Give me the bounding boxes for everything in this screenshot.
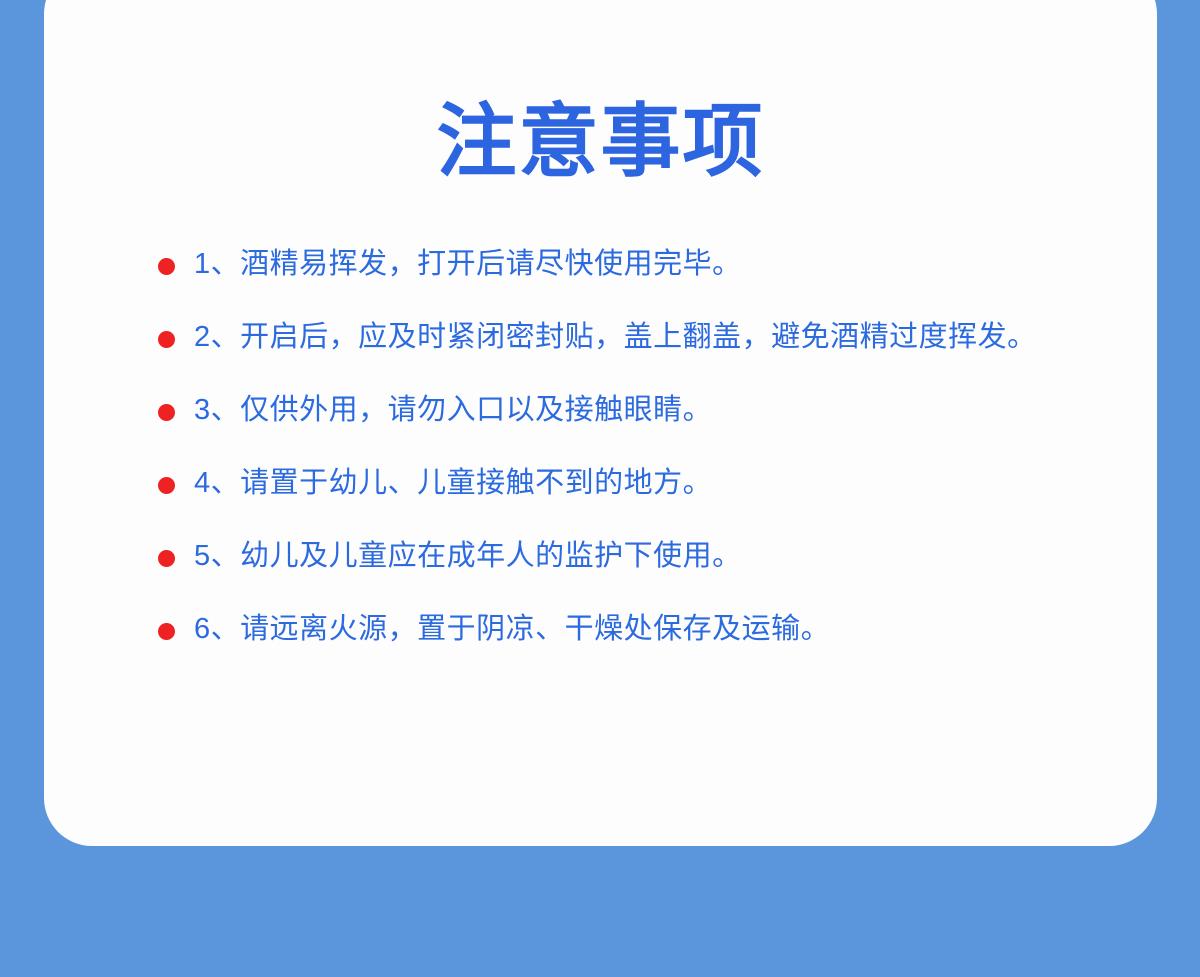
list-item: 4、请置于幼儿、儿童接触不到的地方。 xyxy=(150,460,1110,507)
list-item-text: 5、幼儿及儿童应在成年人的监护下使用。 xyxy=(194,533,1110,580)
notice-list: 1、酒精易挥发，打开后请尽快使用完毕。 2、开启后，应及时紧闭密封贴，盖上翻盖，… xyxy=(150,241,1110,653)
red-dot-bullet-icon xyxy=(158,623,175,640)
red-dot-bullet-icon xyxy=(158,477,175,494)
list-item: 5、幼儿及儿童应在成年人的监护下使用。 xyxy=(150,533,1110,580)
list-item: 2、开启后，应及时紧闭密封贴，盖上翻盖，避免酒精过度挥发。 xyxy=(150,314,1110,361)
list-item-text: 1、酒精易挥发，打开后请尽快使用完毕。 xyxy=(194,241,1110,288)
red-dot-bullet-icon xyxy=(158,550,175,567)
list-item-text: 4、请置于幼儿、儿童接触不到的地方。 xyxy=(194,460,1110,507)
list-item: 1、酒精易挥发，打开后请尽快使用完毕。 xyxy=(150,241,1110,288)
list-item-text: 2、开启后，应及时紧闭密封贴，盖上翻盖，避免酒精过度挥发。 xyxy=(194,314,1110,361)
red-dot-bullet-icon xyxy=(158,331,175,348)
list-item-text: 3、仅供外用，请勿入口以及接触眼睛。 xyxy=(194,387,1110,434)
page-title: 注意事项 xyxy=(44,102,1157,182)
list-item: 3、仅供外用，请勿入口以及接触眼睛。 xyxy=(150,387,1110,434)
page-root: 注意事项 1、酒精易挥发，打开后请尽快使用完毕。 2、开启后，应及时紧闭密封贴，… xyxy=(0,0,1200,977)
list-item-text: 6、请远离火源，置于阴凉、干燥处保存及运输。 xyxy=(194,606,1110,653)
notice-card: 注意事项 1、酒精易挥发，打开后请尽快使用完毕。 2、开启后，应及时紧闭密封贴，… xyxy=(44,0,1157,846)
list-item: 6、请远离火源，置于阴凉、干燥处保存及运输。 xyxy=(150,606,1110,653)
red-dot-bullet-icon xyxy=(158,404,175,421)
red-dot-bullet-icon xyxy=(158,258,175,275)
